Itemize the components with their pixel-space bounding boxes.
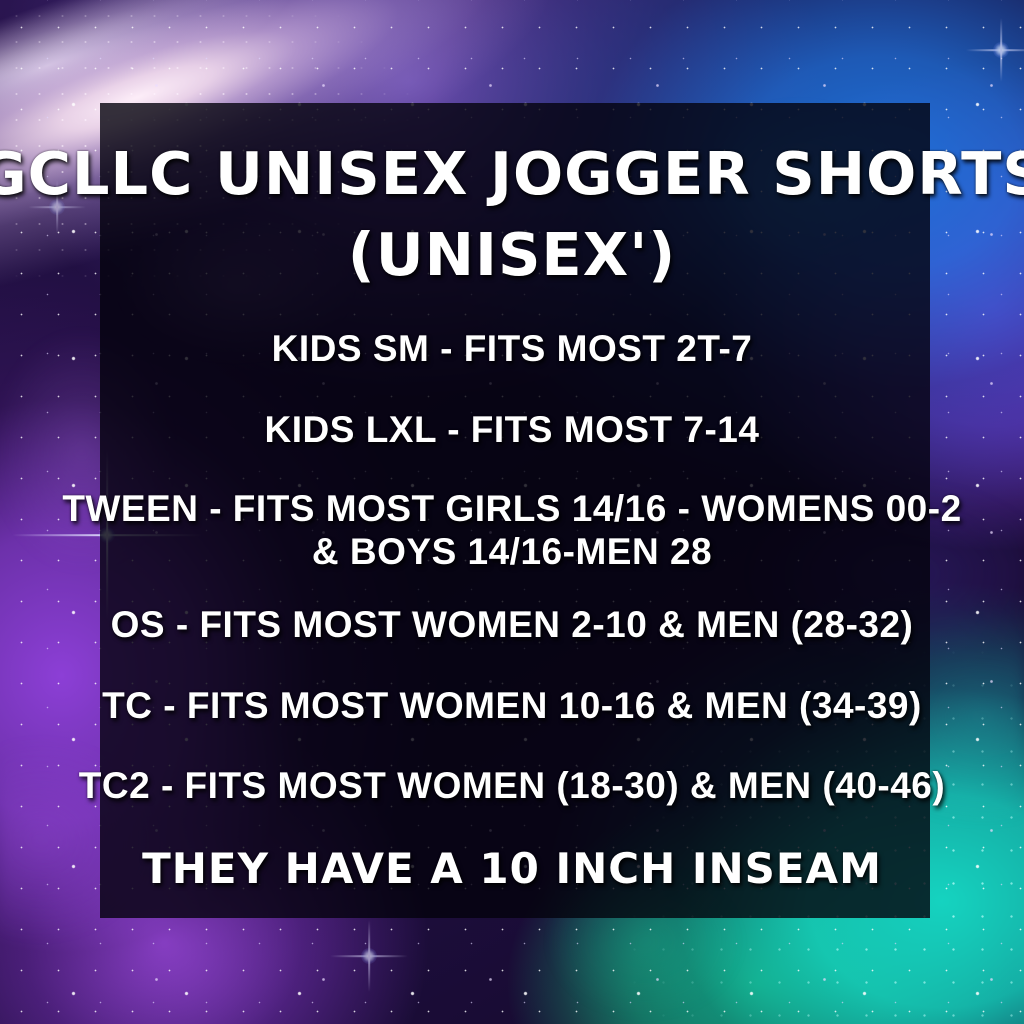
poster-canvas: GCLLC UNISEX JOGGER SHORTS (UNISEX') KID… xyxy=(0,0,1024,1024)
size-line-tc2: TC2 - FITS MOST WOMEN (18-30) & MEN (40-… xyxy=(79,765,945,808)
page-title: GCLLC UNISEX JOGGER SHORTS xyxy=(0,144,1024,203)
size-line-kids-sm: KIDS SM - FITS MOST 2T-7 xyxy=(272,328,753,371)
size-line-os: OS - FITS MOST WOMEN 2-10 & MEN (28-32) xyxy=(111,604,914,647)
poster-text-content: GCLLC UNISEX JOGGER SHORTS (UNISEX') KID… xyxy=(0,0,1024,1024)
page-subtitle: (UNISEX') xyxy=(348,225,677,284)
size-line-tc: TC - FITS MOST WOMEN 10-16 & MEN (34-39) xyxy=(102,685,922,728)
inseam-note: THEY HAVE A 10 INCH INSEAM xyxy=(142,844,882,893)
size-line-kids-lxl: KIDS LXL - FITS MOST 7-14 xyxy=(265,409,760,452)
size-line-tween: TWEEN - FITS MOST GIRLS 14/16 - WOMENS 0… xyxy=(62,488,962,574)
